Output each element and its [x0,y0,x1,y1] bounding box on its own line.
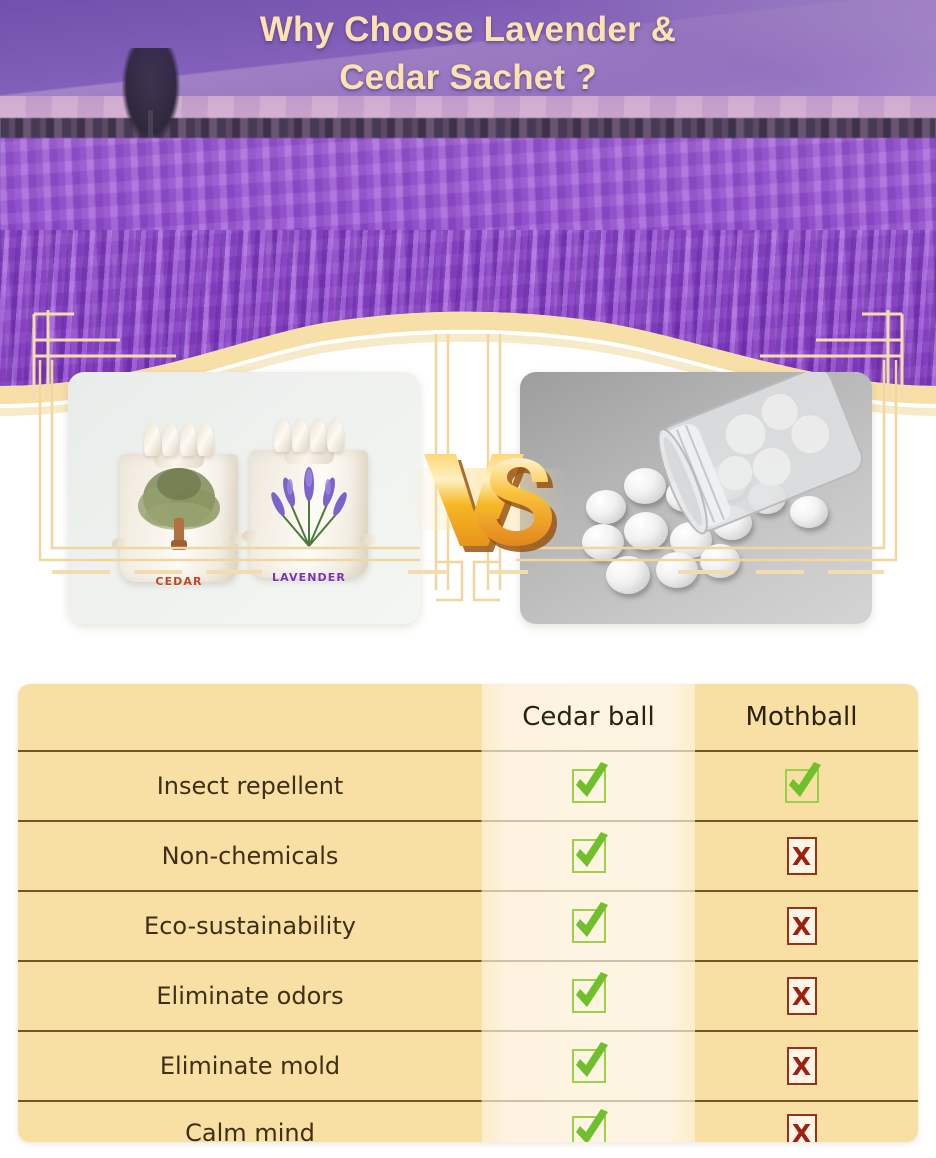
feature-label: Eliminate odors [18,982,482,1010]
feature-label: Insect repellent [18,772,482,800]
header-mothball: Mothball [695,702,908,732]
mothball-cell [695,769,908,803]
lavender-sachet-bag: LAVENDER [250,416,368,592]
cross-icon: X [787,977,817,1015]
check-icon [572,769,606,803]
feature-label: Non-chemicals [18,842,482,870]
mothball-jar-icon [648,372,872,558]
cedar-bag-label: CEDAR [120,575,238,588]
header-cedar-ball: Cedar ball [482,702,695,732]
mothball-cell: X [695,1047,908,1085]
cedar-sachet-bag: CEDAR [120,420,238,596]
cross-icon: X [787,1047,817,1085]
cedar-ball-cell [482,839,695,873]
lavender-sprig-icon [250,450,368,578]
cross-icon: X [787,837,817,875]
check-icon [785,769,819,803]
table-row: Non-chemicals X [18,822,918,890]
mothball [582,524,624,560]
check-icon [572,1049,606,1083]
lavender-bag-ruffle [274,418,344,452]
cedar-ball-cell [482,1049,695,1083]
mothball [586,490,626,524]
table-header-row: Cedar ball Mothball [18,684,918,750]
check-icon [572,979,606,1013]
check-icon [572,1116,606,1142]
cedar-ball-cell [482,769,695,803]
lavender-bag-tie-right [360,534,376,546]
cross-icon: X [787,1114,817,1142]
cedar-bag-ruffle [144,422,214,456]
table-row: Eliminate odors X [18,962,918,1030]
table-row: Calm mind X [18,1102,918,1142]
lavender-bag-body [250,450,368,578]
feature-label: Calm mind [18,1119,482,1142]
cedar-ball-cell [482,909,695,943]
title-line-1: Why Choose Lavender & [0,6,936,54]
table-row: Eco-sustainability X [18,892,918,960]
title-line-2: Cedar Sachet ? [0,54,936,102]
lavender-bag-label: LAVENDER [250,571,368,584]
cedar-ball-cell [482,1116,695,1142]
feature-label: Eliminate mold [18,1052,482,1080]
feature-label: Eco-sustainability [18,912,482,940]
page-title: Why Choose Lavender & Cedar Sachet ? [0,6,936,101]
cedar-bag-tie-left [112,538,128,550]
comparison-table: Cedar ball Mothball Insect repellent Non… [18,684,918,1142]
check-icon [572,839,606,873]
mothball-cell: X [695,907,908,945]
cedar-bag-body [120,454,238,582]
mothball-cell: X [695,837,908,875]
mothball-cell: X [695,1114,908,1142]
mothball [606,556,650,594]
cross-icon: X [787,907,817,945]
lavender-bag-tie-left [242,530,258,542]
mothball-cell: X [695,977,908,1015]
mothball-product-card [520,372,872,624]
cedar-tree-icon [120,454,238,582]
table-row: Eliminate mold X [18,1032,918,1100]
cedar-ball-cell [482,979,695,1013]
table-row: Insect repellent [18,752,918,820]
check-icon [572,909,606,943]
sachet-product-card: CEDAR [68,372,420,624]
versus-badge [408,438,568,563]
